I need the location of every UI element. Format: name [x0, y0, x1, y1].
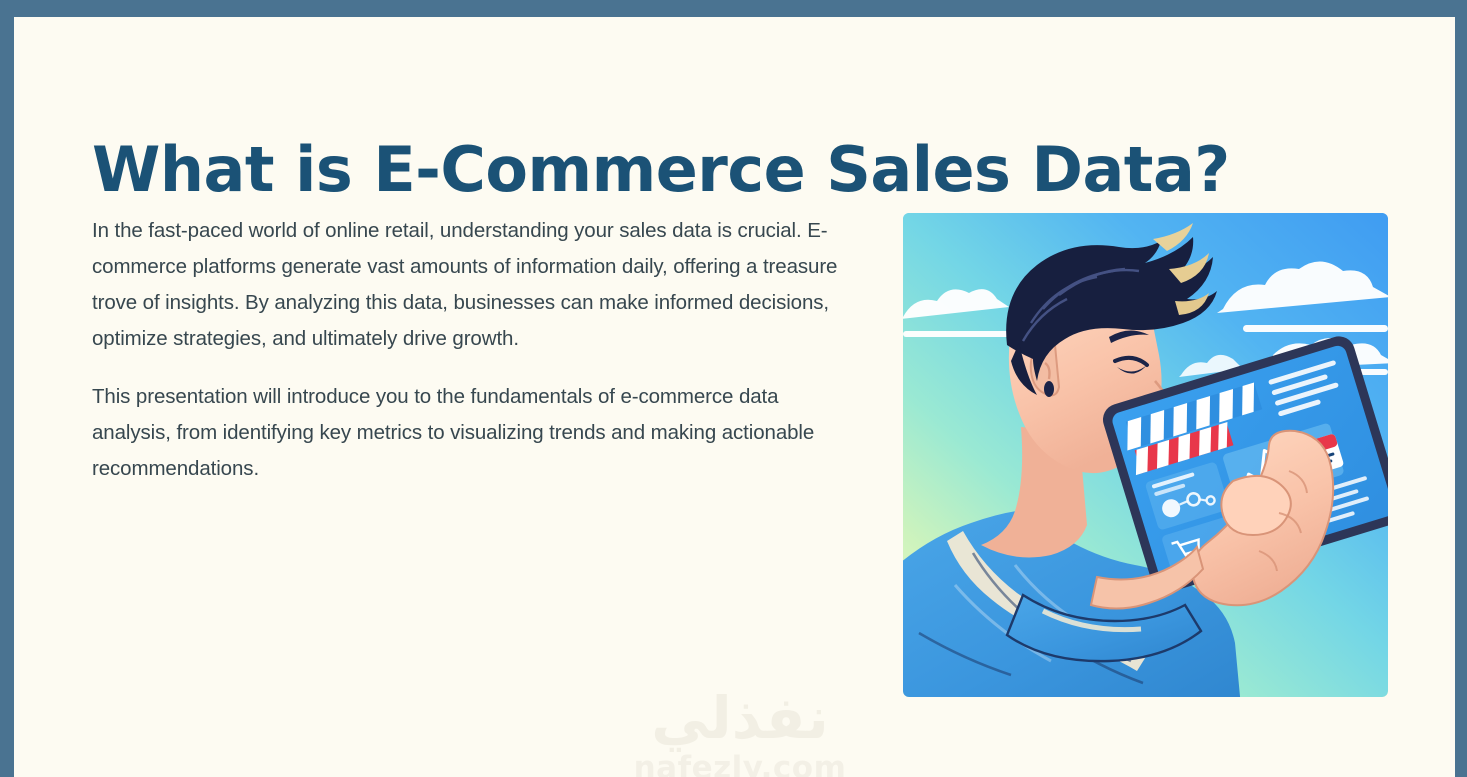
earring: [1044, 381, 1054, 397]
illustration-image: A: [903, 213, 1388, 697]
slide-frame: What is E-Commerce Sales Data? In the fa…: [0, 0, 1467, 777]
watermark-arabic: نفذلي: [630, 689, 850, 747]
paragraph-intro: In the fast-paced world of online retail…: [92, 213, 854, 357]
slide-canvas: What is E-Commerce Sales Data? In the fa…: [14, 17, 1455, 777]
illustration-svg: A: [903, 213, 1388, 697]
paragraph-overview: This presentation will introduce you to …: [92, 379, 854, 487]
watermark-domain: nafezly.com: [630, 753, 850, 777]
thumb: [1221, 476, 1290, 535]
body-text-column: In the fast-paced world of online retail…: [92, 213, 854, 487]
page-title: What is E-Commerce Sales Data?: [92, 137, 1230, 202]
watermark: نفذلي nafezly.com: [630, 689, 850, 777]
